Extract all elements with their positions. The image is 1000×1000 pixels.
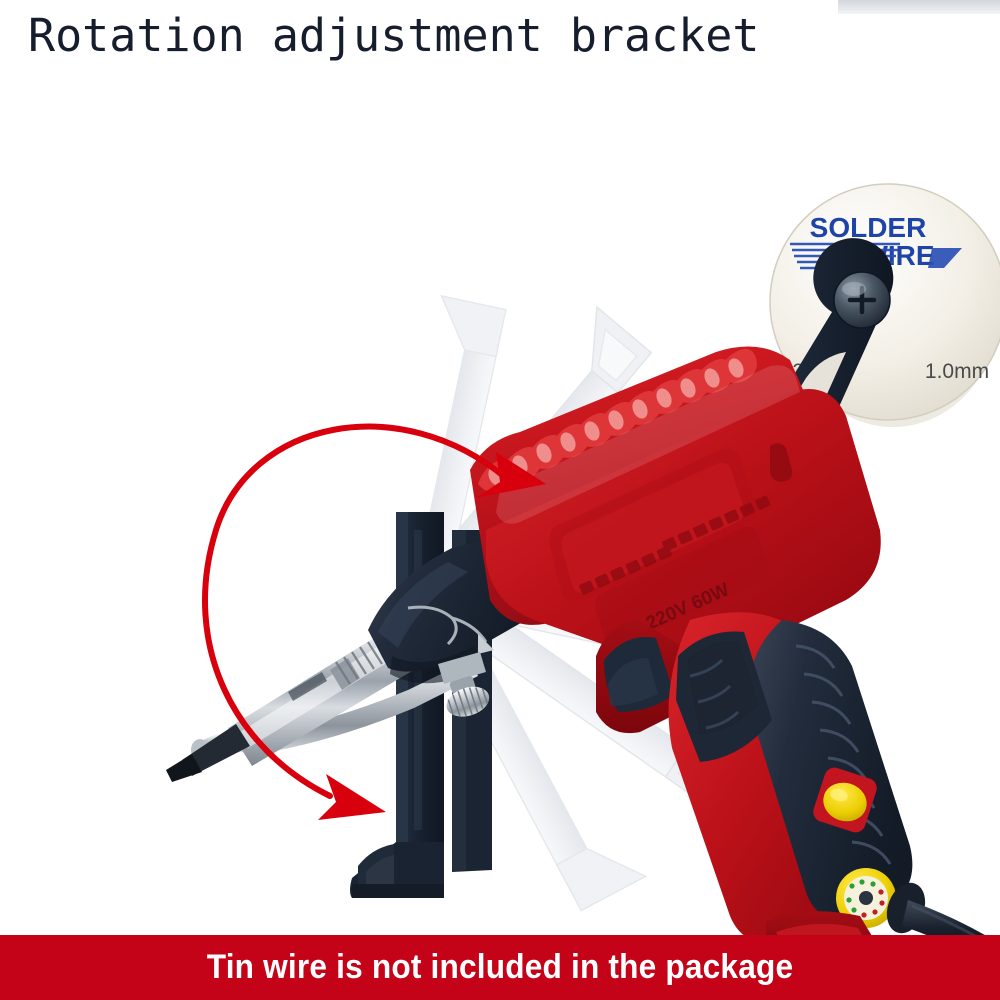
product-image-canvas: Rotation adjustment bracket bbox=[0, 0, 1000, 1000]
spool-brand-solder: SOLDER bbox=[810, 212, 927, 243]
spool-diameter-label: 1.0mm bbox=[925, 360, 989, 383]
solder-gun-body: 220V 60W bbox=[470, 347, 881, 674]
disclaimer-text: Tin wire is not included in the package bbox=[35, 935, 965, 1000]
page-title: Rotation adjustment bracket bbox=[28, 8, 760, 63]
gun-handle bbox=[669, 612, 913, 940]
product-illustration: SOLDER WIRE 63/37 1.0mm bbox=[0, 60, 1000, 940]
top-gray-bar bbox=[838, 0, 1000, 14]
disclaimer-banner: Tin wire is not included in the package bbox=[0, 935, 1000, 1000]
